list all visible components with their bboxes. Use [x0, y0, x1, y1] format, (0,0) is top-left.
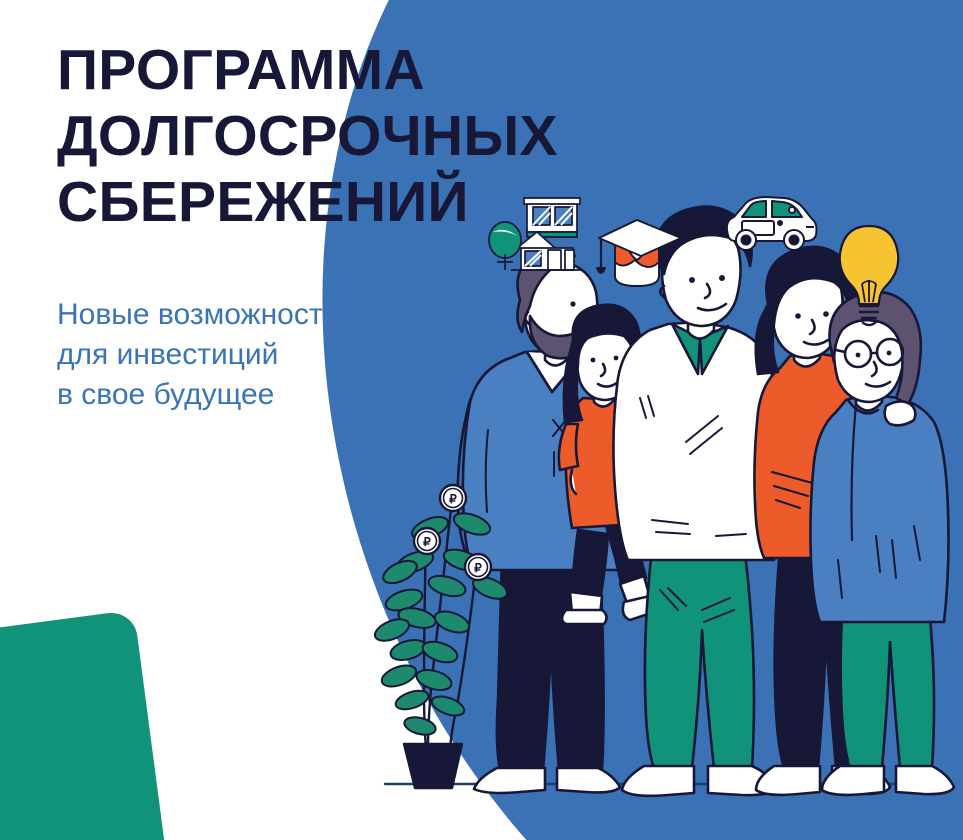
subtitle-line-3: в свое будущее	[57, 375, 527, 415]
page-title: ПРОГРАММА ДОЛГОСРОЧНЫХ СБЕРЕЖЕНИЙ	[57, 38, 527, 235]
text-column: ПРОГРАММА ДОЛГОСРОЧНЫХ СБЕРЕЖЕНИЙ Новые …	[57, 38, 527, 414]
poster-root: ₽ ₽ ₽	[0, 0, 963, 840]
green-rounded-card	[0, 610, 173, 840]
subtitle-line-2: для инвестиций	[57, 335, 527, 375]
headline-line-2: ДОЛГОСРОЧНЫХ	[57, 104, 527, 170]
headline-line-1: ПРОГРАММА	[57, 38, 527, 104]
subtitle-line-1: Новые возможности	[57, 295, 527, 335]
page-subtitle: Новые возможности для инвестиций в свое …	[57, 235, 527, 414]
graduation-cap-icon	[585, 216, 689, 292]
headline-line-3: СБЕРЕЖЕНИЙ	[57, 170, 527, 236]
lightbulb-icon	[832, 222, 906, 328]
car-icon	[718, 193, 822, 255]
